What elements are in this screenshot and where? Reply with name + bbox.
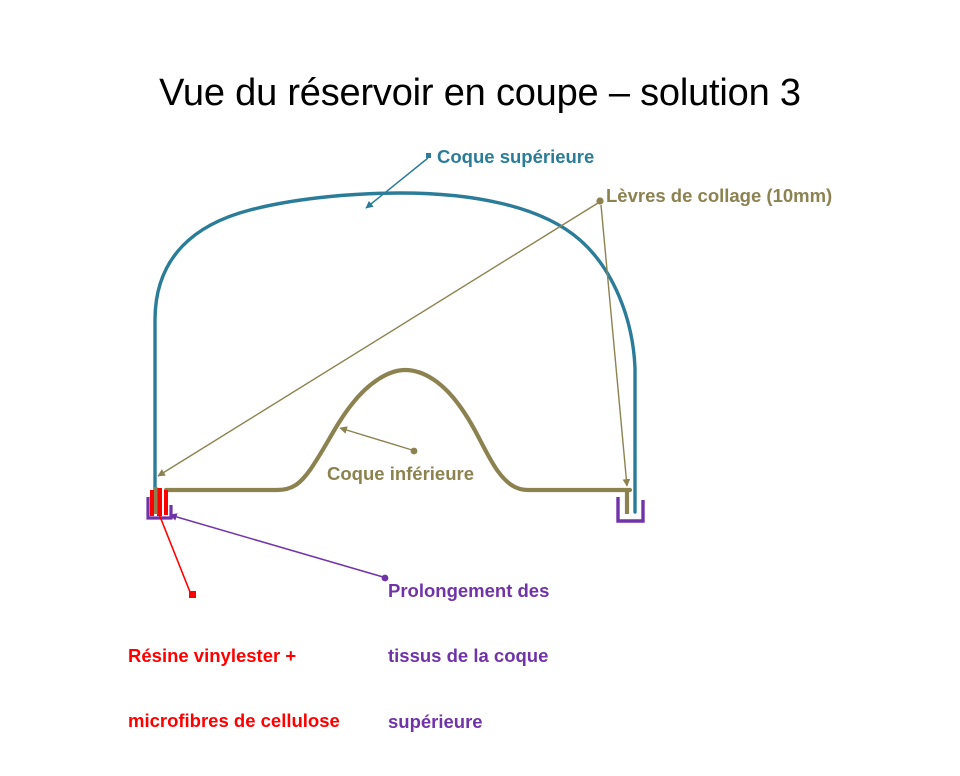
prolongement-bracket-right bbox=[618, 497, 643, 521]
resine-bar-3 bbox=[164, 490, 168, 515]
leader-resine bbox=[159, 514, 196, 598]
leader-dot-resine bbox=[189, 591, 196, 598]
leader-coque-inferieure bbox=[340, 428, 417, 454]
label-levres-de-collage: Lèvres de collage (10mm) bbox=[606, 185, 832, 207]
leader-prolongement bbox=[170, 515, 388, 581]
label-prolongement-line-3: supérieure bbox=[388, 711, 549, 733]
label-prolongement-tissus: Prolongement des tissus de la coque supé… bbox=[388, 536, 549, 776]
resine-bar-1 bbox=[150, 490, 154, 516]
levre-sliver-left bbox=[154, 487, 158, 514]
label-resine-line-2: microfibres de cellulose bbox=[128, 710, 340, 732]
leader-coque-superieure bbox=[366, 153, 431, 208]
leader-levres-de-collage bbox=[158, 197, 627, 486]
leader-dot-coque-inferieure bbox=[411, 448, 418, 455]
label-prolongement-line-1: Prolongement des bbox=[388, 580, 549, 602]
bottom-left-corner-detail bbox=[148, 487, 171, 518]
leader-dot-coque-superieure bbox=[426, 153, 431, 158]
resine-bar-2 bbox=[157, 488, 162, 516]
label-resine-line-1: Résine vinylester + bbox=[128, 645, 340, 667]
label-resine-vinylester: Résine vinylester + microfibres de cellu… bbox=[128, 601, 340, 776]
bottom-right-corner-detail bbox=[618, 497, 643, 521]
label-prolongement-line-2: tissus de la coque bbox=[388, 645, 549, 667]
label-coque-inferieure: Coque inférieure bbox=[327, 463, 474, 485]
slide-canvas: Vue du réservoir en coupe – solution 3 bbox=[0, 0, 960, 720]
label-coque-superieure: Coque supérieure bbox=[437, 146, 594, 168]
